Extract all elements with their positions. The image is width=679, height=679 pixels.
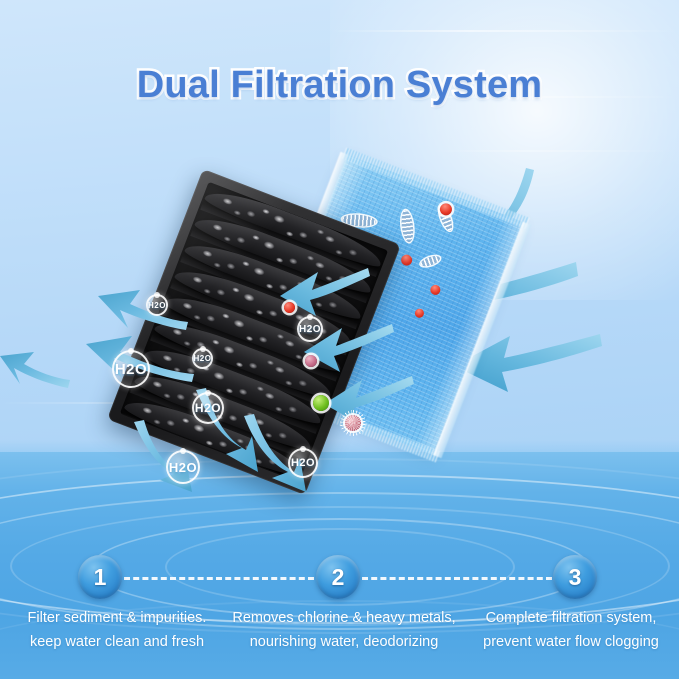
step-number-1-label: 1: [94, 564, 107, 591]
h2o-bubble: H2O: [297, 316, 323, 342]
germ-icon: [345, 415, 361, 431]
germ-icon: [305, 355, 317, 367]
step-number-2-label: 2: [332, 564, 345, 591]
h2o-bubble: H2O: [146, 294, 168, 316]
step-connector-1-2: [124, 577, 314, 580]
step-caption-1: Filter sediment & impurities. keep water…: [8, 606, 226, 654]
h2o-bubble: H2O: [192, 392, 224, 424]
page-title: Dual Filtration System: [0, 64, 679, 107]
step-number-3: 3: [553, 555, 597, 599]
step-connector-2-3: [362, 577, 552, 580]
step-number-1: 1: [78, 555, 122, 599]
outflow-arrow-3: [0, 350, 70, 392]
step-number-3-label: 3: [569, 564, 582, 591]
germ-icon: [284, 302, 295, 313]
h2o-bubble: H2O: [288, 448, 318, 478]
h2o-bubble: H2O: [166, 450, 200, 484]
carbon-filter-media: [120, 182, 388, 482]
step-caption-2: Removes chlorine & heavy metals, nourish…: [228, 606, 460, 654]
germ-icon: [313, 395, 329, 411]
product-illustration: H2O H2O H2O H2O H2O H2O H2O: [0, 150, 679, 480]
step-number-2: 2: [316, 555, 360, 599]
infographic-canvas: Dual Filtration System: [0, 0, 679, 679]
step-caption-3: Complete filtration system, prevent wate…: [464, 606, 678, 654]
h2o-bubble: H2O: [112, 350, 150, 388]
h2o-bubble: H2O: [192, 348, 213, 369]
